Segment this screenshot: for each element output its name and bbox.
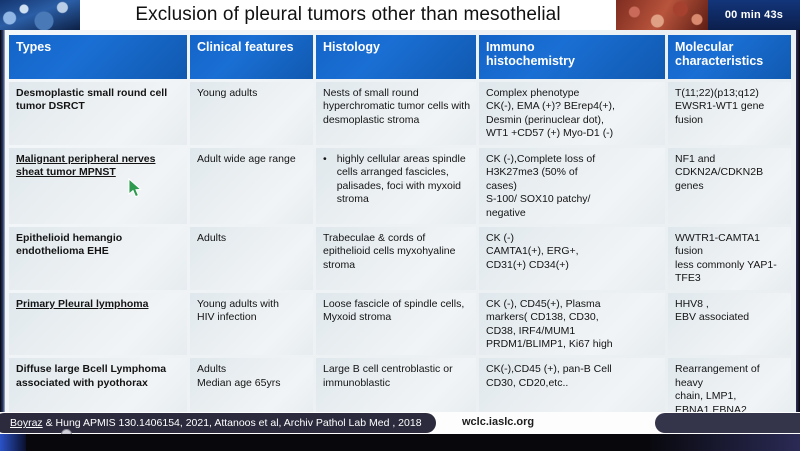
cell-histology: Trabeculae & cords of epithelioid cells … bbox=[316, 227, 476, 290]
presentation-screen: Exclusion of pleural tumors other than m… bbox=[0, 0, 800, 451]
cell-histology: •highly cellular areas spindle cells arr… bbox=[316, 148, 476, 224]
bullet-icon: • bbox=[323, 153, 327, 207]
column-header-immuno: Immunohistochemistry bbox=[479, 35, 665, 79]
cell-clinical-features: Young adults withHIV infection bbox=[190, 293, 313, 356]
column-header-clinical: Clinical features bbox=[190, 35, 313, 79]
page-title: Exclusion of pleural tumors other than m… bbox=[135, 4, 560, 26]
cell-molecular-characteristics: WWTR1-CAMTA1 fusionless commonly YAP1-TF… bbox=[668, 227, 791, 290]
cell-immunohistochemistry: Complex phenotypeCK(-), EMA (+)? BErep4(… bbox=[479, 82, 665, 145]
cell-type: Primary Pleural lymphoma bbox=[9, 293, 187, 356]
cell-histology: Loose fascicle of spindle cells, Myxoid … bbox=[316, 293, 476, 356]
conference-url: wclc.iaslc.org bbox=[462, 416, 534, 428]
screen-edge-left bbox=[0, 30, 5, 412]
presentation-timer: 00 min 43s bbox=[708, 0, 800, 30]
table-row: Desmoplastic small round celltumor DSRCT… bbox=[9, 82, 791, 145]
top-banner-bar: Exclusion of pleural tumors other than m… bbox=[0, 0, 800, 30]
table-row: Primary Pleural lymphomaYoung adults wit… bbox=[9, 293, 791, 356]
screen-edge-right bbox=[796, 30, 800, 412]
cell-molecular-characteristics: T(11;22)(p13;q12)EWSR1-WT1 gene fusion bbox=[668, 82, 791, 145]
slide-title-plate: Exclusion of pleural tumors other than m… bbox=[80, 0, 616, 30]
cell-histology-text: highly cellular areas spindle cells arra… bbox=[337, 153, 471, 207]
cell-type: Epithelioid hemangioendothelioma EHE bbox=[9, 227, 187, 290]
cell-immunohistochemistry: CK (-),Complete loss ofH3K27me3 (50% ofc… bbox=[479, 148, 665, 224]
conference-photo-left-icon bbox=[0, 0, 80, 30]
table-row: Epithelioid hemangioendothelioma EHEAdul… bbox=[9, 227, 791, 290]
cell-clinical-features: Adult wide age range bbox=[190, 148, 313, 224]
cell-clinical-features: Adults bbox=[190, 227, 313, 290]
cell-clinical-features: Young adults bbox=[190, 82, 313, 145]
cell-immunohistochemistry: CK (-)CAMTA1(+), ERG+,CD31(+) CD34(+) bbox=[479, 227, 665, 290]
bezel-glow-right-icon bbox=[650, 434, 800, 451]
table-row: Malignant peripheral nervessheat tumor M… bbox=[9, 148, 791, 224]
cell-type: Malignant peripheral nervessheat tumor M… bbox=[9, 148, 187, 224]
column-header-types: Types bbox=[9, 35, 187, 79]
cell-molecular-characteristics: NF1 andCDKN2A/CDKN2B genes bbox=[668, 148, 791, 224]
table-body: Desmoplastic small round celltumor DSRCT… bbox=[9, 82, 791, 421]
cell-histology: Nests of small round hyperchromatic tumo… bbox=[316, 82, 476, 145]
citation-text: Boyraz & Hung APMIS 130.1406154, 2021, A… bbox=[10, 417, 422, 429]
table-header-row: Types Clinical features Histology Immuno… bbox=[9, 35, 791, 79]
timer-value: 00 min 43s bbox=[725, 9, 783, 21]
cell-molecular-characteristics: HHV8 ,EBV associated bbox=[668, 293, 791, 356]
slide-body: Types Clinical features Histology Immuno… bbox=[0, 30, 800, 412]
cell-type: Desmoplastic small round celltumor DSRCT bbox=[9, 82, 187, 145]
cell-immunohistochemistry: CK (-), CD45(+), Plasmamarkers( CD138, C… bbox=[479, 293, 665, 356]
tumor-comparison-table: Types Clinical features Histology Immuno… bbox=[6, 32, 794, 424]
bezel-glow-left-icon bbox=[0, 434, 26, 451]
mouse-cursor-icon bbox=[128, 178, 142, 198]
column-header-histology: Histology bbox=[316, 35, 476, 79]
conference-photo-right-icon bbox=[616, 0, 708, 30]
column-header-molecular: Molecularcharacteristics bbox=[668, 35, 791, 79]
footer-right-pill bbox=[655, 413, 800, 433]
